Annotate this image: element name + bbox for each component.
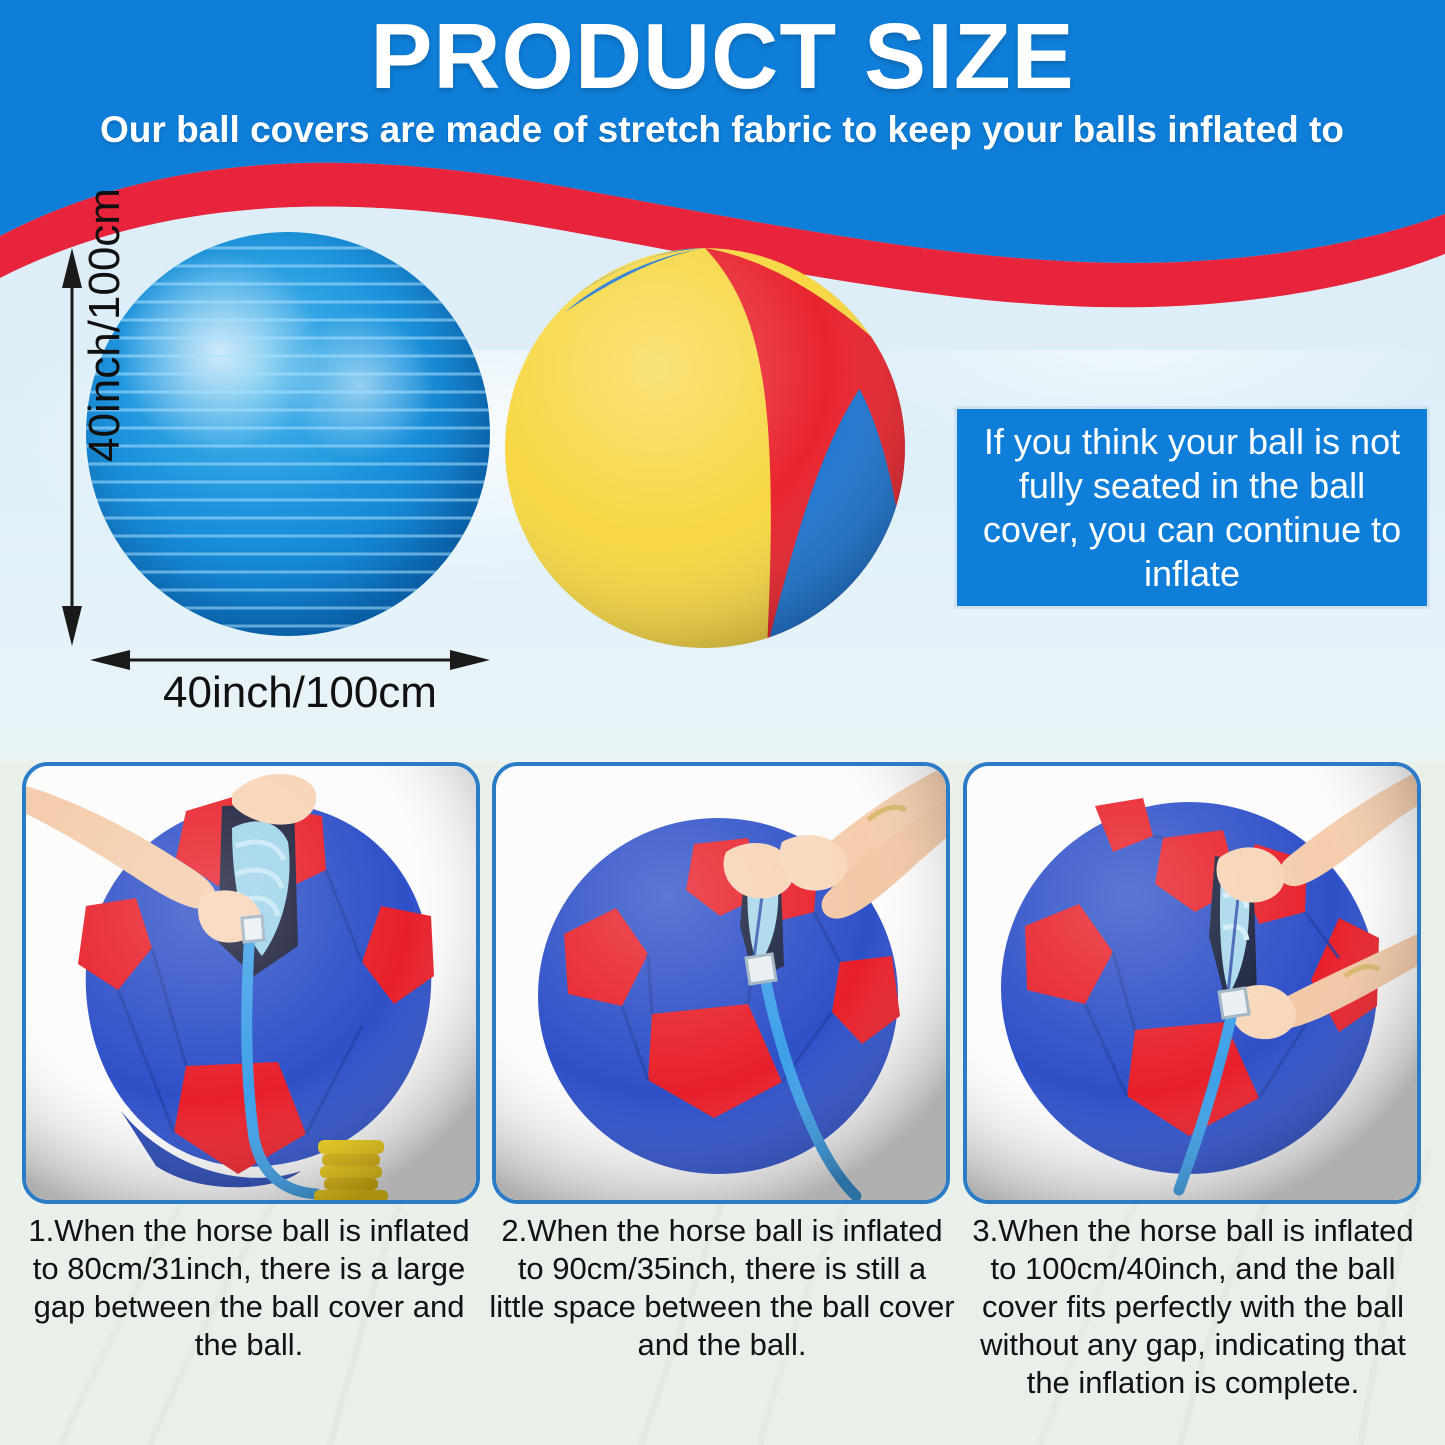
vertical-dimension-label: 40inch/100cm xyxy=(80,160,130,490)
instruction-panels xyxy=(0,762,1445,1204)
caption-step-3: 3.When the horse ball is inflated to 100… xyxy=(958,1212,1428,1402)
horizontal-dimension-label: 40inch/100cm xyxy=(100,668,500,718)
dimension-guides: 40inch/100cm 40inch/100cm xyxy=(0,0,1445,762)
caption-row: 1.When the horse ball is inflated to 80c… xyxy=(0,1204,1445,1445)
product-size-infographic: PRODUCT SIZE Our ball covers are made of… xyxy=(0,0,1445,1445)
instruction-panel-1 xyxy=(22,762,480,1204)
caption-step-1: 1.When the horse ball is inflated to 80c… xyxy=(14,1212,484,1364)
instruction-panel-3 xyxy=(963,762,1421,1204)
caption-step-2: 2.When the horse ball is inflated to 90c… xyxy=(487,1212,957,1364)
dimension-arrows xyxy=(0,0,1445,762)
callout-text: If you think your ball is not fully seat… xyxy=(957,420,1427,596)
inflate-tip-callout: If you think your ball is not fully seat… xyxy=(954,406,1430,609)
instruction-panel-2 xyxy=(492,762,950,1204)
